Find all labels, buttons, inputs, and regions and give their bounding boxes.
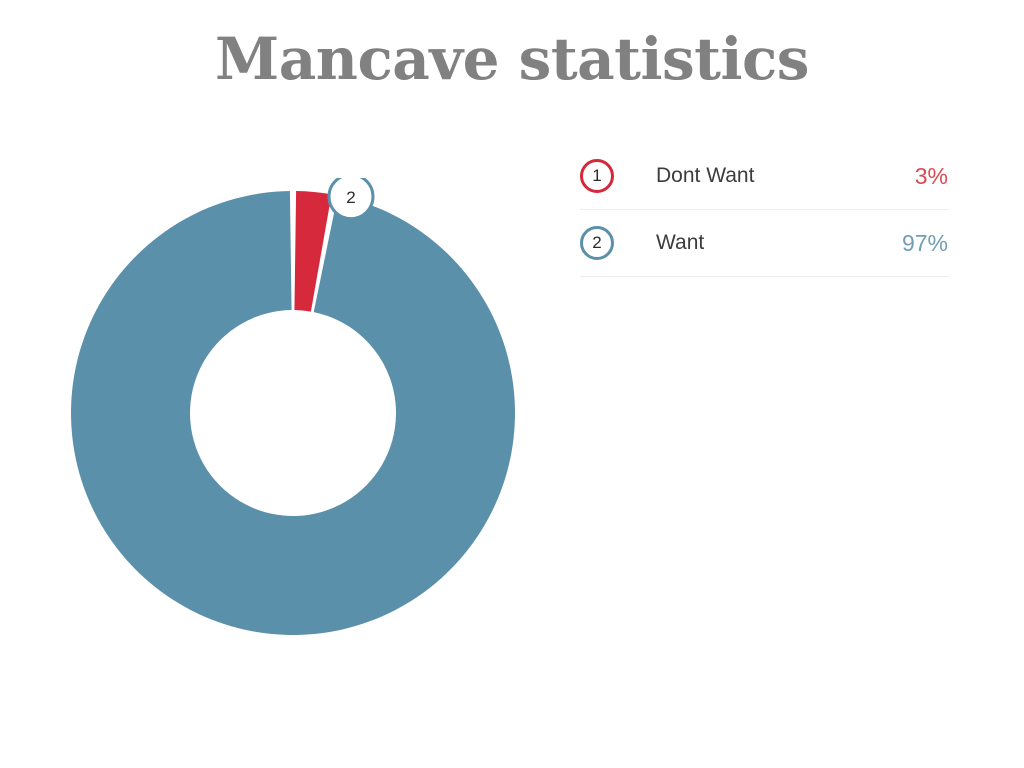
donut-slice-group [71, 191, 515, 635]
legend-row-want[interactable]: 2 Want 97% [580, 210, 950, 277]
legend-row-dont-want[interactable]: 1 Dont Want 3% [580, 143, 950, 210]
legend-label-want: Want [656, 231, 902, 255]
donut-slice-want[interactable] [71, 191, 515, 635]
callout-label: 2 [346, 188, 355, 207]
donut-chart-svg: 2 [60, 178, 530, 648]
legend-badge-1: 1 [580, 159, 614, 193]
legend-value-want: 97% [902, 230, 950, 257]
callout-marker-want[interactable]: 2 [329, 178, 373, 219]
legend-value-dont-want: 3% [915, 163, 950, 190]
legend: 1 Dont Want 3% 2 Want 97% [580, 143, 950, 277]
donut-chart: 2 [60, 178, 530, 648]
legend-badge-2: 2 [580, 226, 614, 260]
page-title: Mancave statistics [0, 28, 1024, 92]
legend-label-dont-want: Dont Want [656, 164, 915, 188]
